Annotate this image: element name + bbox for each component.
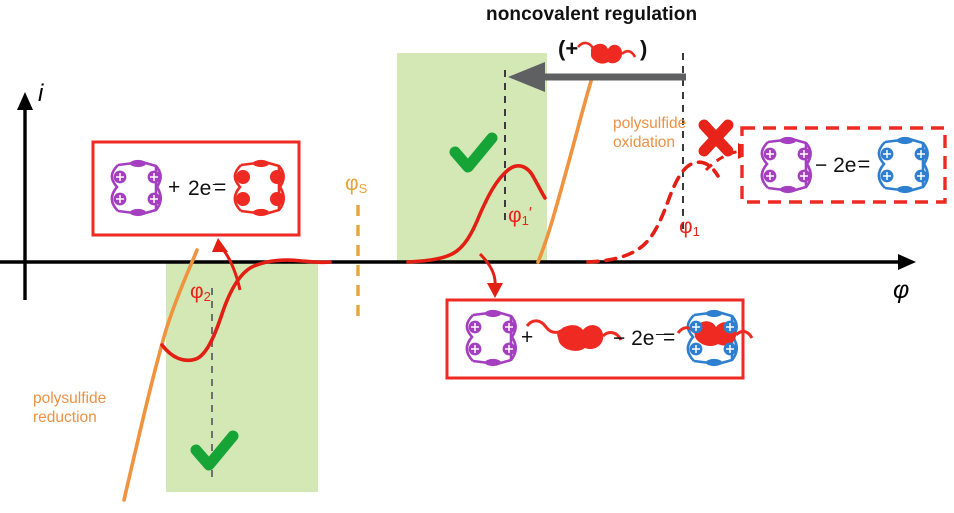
polysulfide-reduction-line2: reduction <box>33 408 106 427</box>
polysulfide-oxidation-label: polysulfide oxidation <box>613 114 686 152</box>
green-band-reduction <box>166 262 318 492</box>
bottom-equation-electrons: − 2e⁻ <box>613 326 666 351</box>
phi-1-prime-subscript: 1 <box>522 213 529 228</box>
x-axis-arrowhead <box>898 254 916 270</box>
phi-1-prime-mark: ′ <box>529 205 532 222</box>
y-axis-label: i <box>38 80 43 108</box>
additive-annotation-open: (+ <box>558 36 578 62</box>
phi-1-subscript: 1 <box>693 224 700 239</box>
phi-1-prime-symbol: φ <box>508 204 522 227</box>
phi-s-subscript: S <box>359 181 368 196</box>
host-oxidation-curve-unregulated <box>588 162 718 262</box>
cross-mark-icon <box>704 125 728 151</box>
left-equation-equals: = <box>214 176 226 200</box>
phi-1-prime-label: φ1′ <box>508 204 532 228</box>
polysulfide-oxidation-line1: polysulfide <box>613 114 686 133</box>
additive-annotation-close: ) <box>640 36 647 62</box>
phi-2-label: φ2 <box>190 280 211 304</box>
x-axis-label: φ <box>893 276 909 305</box>
arrow-to-bottom-box-head <box>487 283 503 298</box>
page-title: noncovalent regulation <box>486 4 697 26</box>
polysulfide-reduction-line1: polysulfide <box>33 389 106 408</box>
phi-s-label: φS <box>345 172 367 196</box>
phi-s-symbol: φ <box>345 172 359 195</box>
bottom-equation-equals: = <box>663 326 675 350</box>
polysulfide-reduction-label: polysulfide reduction <box>33 389 106 427</box>
figure-canvas: noncovalent regulation (+ ) i φ φS φ1′ φ… <box>0 0 954 513</box>
y-axis-arrowhead <box>17 92 33 110</box>
red-guest-molecule-icon-title <box>578 43 635 64</box>
arrow-to-left-box-head <box>212 238 228 252</box>
phi-1-symbol: φ <box>679 215 693 238</box>
phi-2-symbol: φ <box>190 280 204 303</box>
left-equation-plus: + <box>168 176 180 200</box>
right-equation-equals: = <box>858 153 870 177</box>
bottom-equation-plus: + <box>521 326 533 350</box>
phi-1-label: φ1 <box>679 215 700 239</box>
electrochemistry-schematic <box>0 0 954 513</box>
polysulfide-oxidation-line2: oxidation <box>613 133 686 152</box>
phi-2-subscript: 2 <box>204 289 211 304</box>
